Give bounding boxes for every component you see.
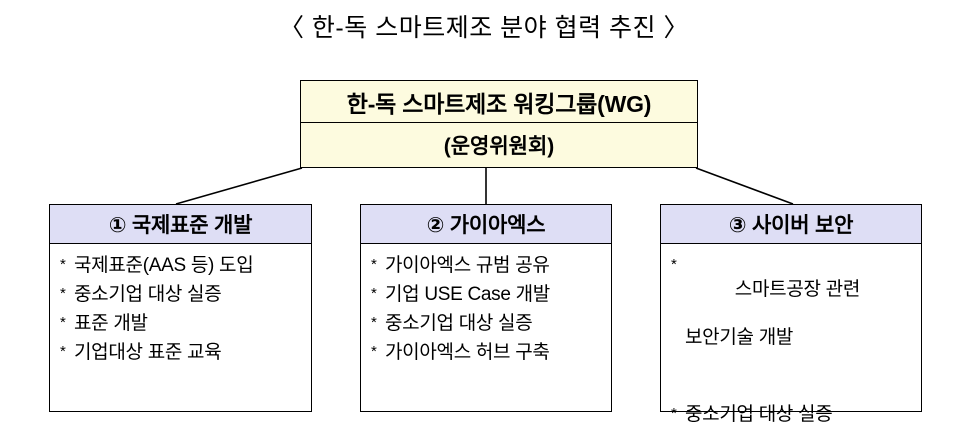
list-item-label: 중소기업 대상 실증 — [385, 312, 605, 336]
bullet-icon: * — [60, 312, 74, 335]
list-item: * 기업 USE Case 개발 — [371, 283, 605, 307]
page-title: 〈 한-독 스마트제조 분야 협력 추진 〉 — [0, 8, 968, 44]
bullet-icon: * — [60, 341, 74, 364]
list-item: * 기업대상 표준 교육 — [60, 341, 305, 365]
list-item-label: 가이아엑스 규범 공유 — [385, 254, 605, 278]
connector-root-to-branch-3 — [696, 168, 793, 204]
branch-node-cyber-security: ③ 사이버 보안 * 스마트공장 관련 보안기술 개발 * 중소기업 대상 실증 — [660, 204, 922, 412]
branch-2-item-list: * 가이아엑스 규범 공유 * 기업 USE Case 개발 * 중소기업 대상… — [361, 244, 611, 411]
list-item: * 가이아엑스 규범 공유 — [371, 254, 605, 278]
org-chart-diagram: 〈 한-독 스마트제조 분야 협력 추진 〉 한-독 스마트제조 워킹그룹(WG… — [0, 0, 968, 427]
root-node-subtitle: (운영위원회) — [301, 123, 697, 167]
branch-3-item-list: * 스마트공장 관련 보안기술 개발 * 중소기업 대상 실증 — [661, 244, 921, 431]
list-item-label: 기업대상 표준 교육 — [74, 341, 305, 365]
list-item-label: 중소기업 대상 실증 — [685, 403, 915, 427]
list-item: * 중소기업 대상 실증 — [671, 403, 915, 427]
root-node-title: 한-독 스마트제조 워킹그룹(WG) — [301, 81, 697, 123]
branch-node-gaia-x: ② 가이아엑스 * 가이아엑스 규범 공유 * 기업 USE Case 개발 *… — [360, 204, 612, 412]
list-item: * 표준 개발 — [60, 312, 305, 336]
bullet-icon: * — [60, 283, 74, 306]
list-item-label-line2: 보안기술 개발 — [685, 326, 915, 350]
bullet-icon: * — [371, 312, 385, 335]
bullet-icon: * — [60, 254, 74, 277]
list-item-label: 기업 USE Case 개발 — [385, 283, 605, 307]
list-item: * 스마트공장 관련 보안기술 개발 — [671, 254, 915, 398]
bullet-icon: * — [371, 254, 385, 277]
list-item-label: 표준 개발 — [74, 312, 305, 336]
bullet-icon: * — [671, 254, 685, 277]
root-node-working-group: 한-독 스마트제조 워킹그룹(WG) (운영위원회) — [300, 80, 698, 168]
branch-2-header: ② 가이아엑스 — [361, 205, 611, 244]
list-item-label: 스마트공장 관련 보안기술 개발 — [685, 254, 915, 398]
list-item: * 국제표준(AAS 등) 도입 — [60, 254, 305, 278]
branch-1-item-list: * 국제표준(AAS 등) 도입 * 중소기업 대상 실증 * 표준 개발 * … — [50, 244, 311, 411]
list-item: * 중소기업 대상 실증 — [60, 283, 305, 307]
list-item-label-line1: 스마트공장 관련 — [735, 279, 860, 300]
list-item: * 가이아엑스 허브 구축 — [371, 341, 605, 365]
bullet-icon: * — [671, 403, 685, 426]
list-item-label: 중소기업 대상 실증 — [74, 283, 305, 307]
connector-root-to-branch-1 — [176, 168, 302, 204]
bullet-icon: * — [371, 341, 385, 364]
list-item-label: 가이아엑스 허브 구축 — [385, 341, 605, 365]
list-item: * 중소기업 대상 실증 — [371, 312, 605, 336]
bullet-icon: * — [371, 283, 385, 306]
branch-3-header: ③ 사이버 보안 — [661, 205, 921, 244]
branch-node-international-standards: ① 국제표준 개발 * 국제표준(AAS 등) 도입 * 중소기업 대상 실증 … — [49, 204, 312, 412]
list-item-label: 국제표준(AAS 등) 도입 — [74, 254, 305, 278]
branch-1-header: ① 국제표준 개발 — [50, 205, 311, 244]
